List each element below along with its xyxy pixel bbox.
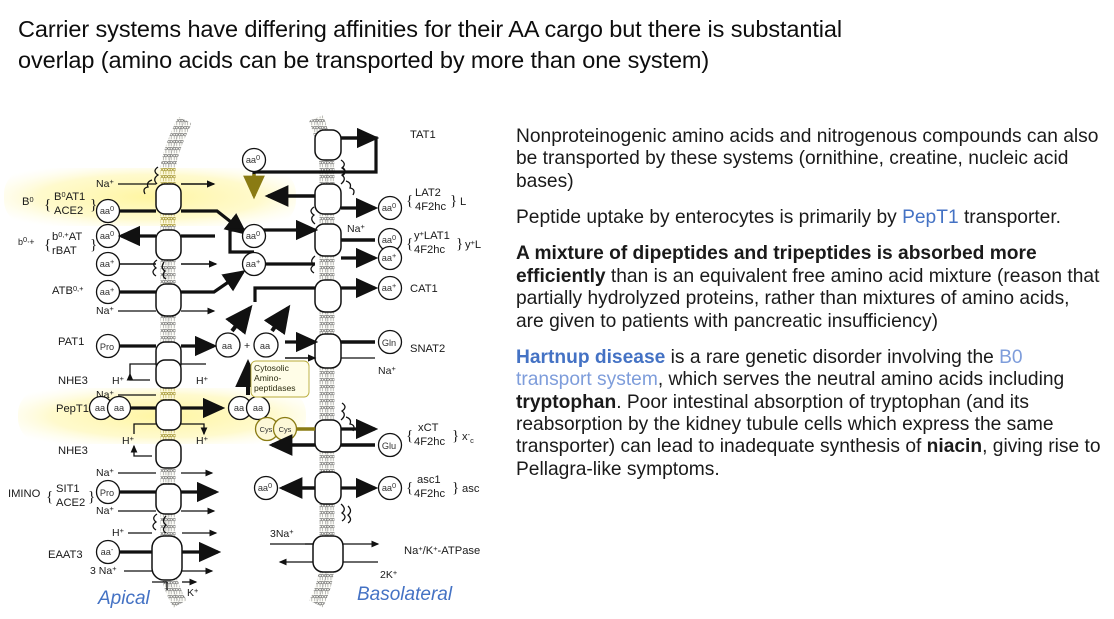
svg-text:}: }	[452, 428, 459, 444]
apical-ion-h-5: H+	[112, 526, 124, 539]
svg-text:}: }	[456, 236, 463, 252]
cytobox-line-3: peptidases	[254, 383, 296, 393]
basolateral-substrate-aa0-lat2: aa0	[379, 197, 402, 220]
basolateral-ion-na-2: Na+	[378, 364, 396, 377]
svg-text:4F2hc: 4F2hc	[414, 488, 445, 500]
svg-text:Cys: Cys	[279, 425, 292, 434]
enterocyte-transporter-diagram: Na+ aa0 aa0 aa+ aa+ Na+ Pro	[0, 112, 510, 619]
label-asc1-system: { asc1 4F2hc } asc	[406, 474, 480, 500]
caption-apical: Apical	[97, 588, 151, 609]
basolateral-substrate-aa0-tat1: aa0	[243, 149, 266, 172]
svg-text:rBAT: rBAT	[52, 245, 77, 257]
apical-substrate-aaplus-1: aa+	[97, 253, 120, 276]
apical-ion-na-4: Na+	[96, 466, 114, 479]
run-text: is a rare genetic disorder involving the	[665, 347, 999, 368]
label-pat1: PAT1	[58, 336, 84, 348]
apical-substrate-aa0-1: aa0	[97, 200, 120, 223]
slide-title-line-2: overlap (amino acids can be transported …	[18, 45, 1018, 76]
apical-ion-h-3: H+	[122, 434, 134, 447]
svg-text:4F2hc: 4F2hc	[414, 436, 445, 448]
svg-text:xCT: xCT	[418, 422, 439, 434]
apical-substrate-aaminus: aa-	[97, 541, 120, 564]
svg-text:}: }	[452, 480, 459, 496]
basolateral-substrate-aaplus-cat1: aa+	[379, 277, 402, 300]
svg-text:{: {	[406, 428, 413, 444]
apical-channel-pept1	[156, 400, 181, 430]
label-tat1: TAT1	[410, 129, 436, 141]
svg-text:4F2hc: 4F2hc	[415, 201, 446, 213]
basolateral-ion-na-1: Na+	[347, 222, 365, 235]
svg-text:aa: aa	[222, 341, 233, 351]
apical-ion-na-2: Na+	[96, 304, 114, 317]
svg-text:LAT2: LAT2	[415, 187, 441, 199]
svg-text:}: }	[88, 489, 95, 505]
term-tryptophan: tryptophan	[516, 392, 616, 413]
apical-ion-h-4: H+	[196, 434, 208, 447]
label-atb0plus: ATB0,+	[52, 284, 83, 297]
basolateral-channel-na-k-atpase	[313, 536, 343, 572]
svg-text:}: }	[90, 237, 97, 253]
svg-text:y+LAT1: y+LAT1	[414, 229, 450, 242]
svg-text:asc: asc	[462, 483, 480, 495]
svg-text:ACE2: ACE2	[56, 497, 85, 509]
svg-text:x-c: x-c	[462, 430, 474, 445]
label-xct-system: { xCT 4F2hc } x-c	[406, 422, 474, 448]
svg-text:{: {	[406, 236, 413, 252]
basolateral-substrate-aaplus-cytosol: aa+	[243, 253, 266, 276]
svg-text:{: {	[44, 237, 51, 253]
slide-title-line-1: Carrier systems have differing affinitie…	[18, 14, 1018, 45]
run-text: , which serves the neutral amino acids i…	[658, 369, 1064, 390]
basolateral-substrate-aa0-asc-out: aa0	[379, 477, 402, 500]
explanatory-text-column: Nonproteinogenic amino acids and nitroge…	[516, 126, 1102, 481]
apical-channel-atb0plus	[156, 284, 181, 316]
apical-ion-na-5: Na+	[96, 504, 114, 517]
svg-text:y+L: y+L	[465, 238, 481, 251]
svg-text:}: }	[450, 193, 457, 209]
run-text: transporter.	[959, 207, 1061, 228]
basolateral-substrate-gln: Gln	[379, 331, 402, 354]
term-pept1: PepT1	[902, 207, 959, 228]
apical-substrate-dipeptide-lumen: aa aa	[90, 397, 131, 420]
svg-text:SIT1: SIT1	[56, 483, 80, 495]
basolateral-substrate-aa0-cytosol: aa0	[243, 225, 266, 248]
run-text: Peptide uptake by enterocytes is primari…	[516, 207, 902, 228]
basolateral-ion-3na: 3Na+	[270, 527, 294, 540]
apical-substrate-dipeptide-cytosol: aa aa	[229, 397, 270, 420]
paragraph-nonproteinogenic: Nonproteinogenic amino acids and nitroge…	[516, 126, 1102, 193]
svg-text:aa: aa	[234, 403, 245, 413]
svg-text:L: L	[460, 196, 466, 208]
paragraph-dipeptide-mixture: A mixture of dipeptides and tripeptides …	[516, 243, 1102, 332]
svg-text:asc1: asc1	[417, 474, 441, 486]
svg-text:Pro: Pro	[100, 342, 114, 352]
svg-text:Glu: Glu	[382, 441, 396, 451]
svg-text:aa: aa	[260, 341, 271, 351]
apical-channel-eaat3	[152, 536, 182, 580]
svg-text:Pro: Pro	[100, 488, 114, 498]
basolateral-substrate-glu: Glu	[379, 434, 402, 457]
slide-title: Carrier systems have differing affinitie…	[18, 14, 1018, 76]
label-pept1: PepT1	[56, 403, 89, 415]
apical-channel-nhe3-upper	[156, 360, 181, 388]
svg-text:aa: aa	[95, 403, 106, 413]
label-ylat1-system: { y+LAT1 4F2hc } y+L	[406, 229, 481, 256]
svg-text:aa: aa	[253, 403, 264, 413]
svg-text:ACE2: ACE2	[54, 205, 83, 217]
label-nhe3-upper: NHE3	[58, 375, 88, 387]
svg-text:Cys: Cys	[260, 425, 273, 434]
apical-ion-h-1: H+	[112, 374, 124, 387]
svg-text:b0,+: b0,+	[18, 235, 34, 247]
label-imino-system: IMINO { SIT1 ACE2 }	[8, 483, 95, 509]
basolateral-ion-2k: 2K+	[380, 568, 397, 581]
label-lat2-system: { LAT2 4F2hc } L	[406, 187, 466, 213]
basolateral-substrate-cystine: Cys Cys	[256, 418, 297, 441]
paragraph-peptide-uptake: Peptide uptake by enterocytes is primari…	[516, 207, 1102, 229]
apical-substrate-aaplus-2: aa+	[97, 281, 120, 304]
svg-text:{: {	[46, 489, 53, 505]
svg-text:B0AT1: B0AT1	[54, 190, 85, 203]
label-cat1: CAT1	[410, 283, 438, 295]
label-b0plus-system: b0,+ { b0,+AT rBAT }	[18, 230, 97, 257]
apical-ion-k: K+	[187, 586, 198, 599]
apical-channel-nhe3-lower	[156, 440, 181, 468]
basolateral-channel-cat1	[315, 280, 341, 312]
apical-substrate-aa0-2: aa0	[97, 225, 120, 248]
label-eaat3: EAAT3	[48, 549, 83, 561]
basolateral-substrate-aa0-asc-in: aa0	[255, 477, 278, 500]
svg-text:{: {	[406, 193, 413, 209]
term-hartnup-disease: Hartnup disease	[516, 347, 665, 368]
caption-basolateral: Basolateral	[357, 584, 453, 605]
svg-text:4F2hc: 4F2hc	[414, 244, 445, 256]
cytobox-line-1: Cytosolic	[254, 363, 290, 373]
label-na-k-atpase: Na+/K+-ATPase	[404, 544, 480, 557]
cytobox-line-2: Amino-	[254, 373, 281, 383]
plus-sign: +	[244, 340, 250, 352]
svg-text:IMINO: IMINO	[8, 488, 41, 500]
paragraph-hartnup-disease: Hartnup disease is a rare genetic disord…	[516, 347, 1102, 481]
svg-text:b0,+AT: b0,+AT	[52, 230, 82, 243]
svg-text:{: {	[406, 480, 413, 496]
svg-text:{: {	[44, 197, 51, 213]
basolateral-channel-snat2	[315, 334, 341, 368]
svg-text:aa: aa	[114, 403, 125, 413]
apical-substrate-pro-2: Pro	[97, 481, 120, 504]
apical-ion-h-2: H+	[196, 374, 208, 387]
svg-text:Gln: Gln	[382, 338, 396, 348]
svg-text:}: }	[90, 197, 97, 213]
label-snat2: SNAT2	[410, 343, 445, 355]
term-niacin: niacin	[927, 436, 982, 457]
cytosolic-aminopeptidase-label-box: Cytosolic Amino- peptidases	[251, 361, 309, 397]
run-text: Nonproteinogenic amino acids and nitroge…	[516, 126, 1098, 192]
label-nhe3-lower: NHE3	[58, 445, 88, 457]
apical-ion-3na: 3 Na+	[90, 564, 117, 577]
apical-substrate-pro-1: Pro	[97, 335, 120, 358]
basolateral-substrate-aaplus-ylat: aa+	[379, 247, 402, 270]
